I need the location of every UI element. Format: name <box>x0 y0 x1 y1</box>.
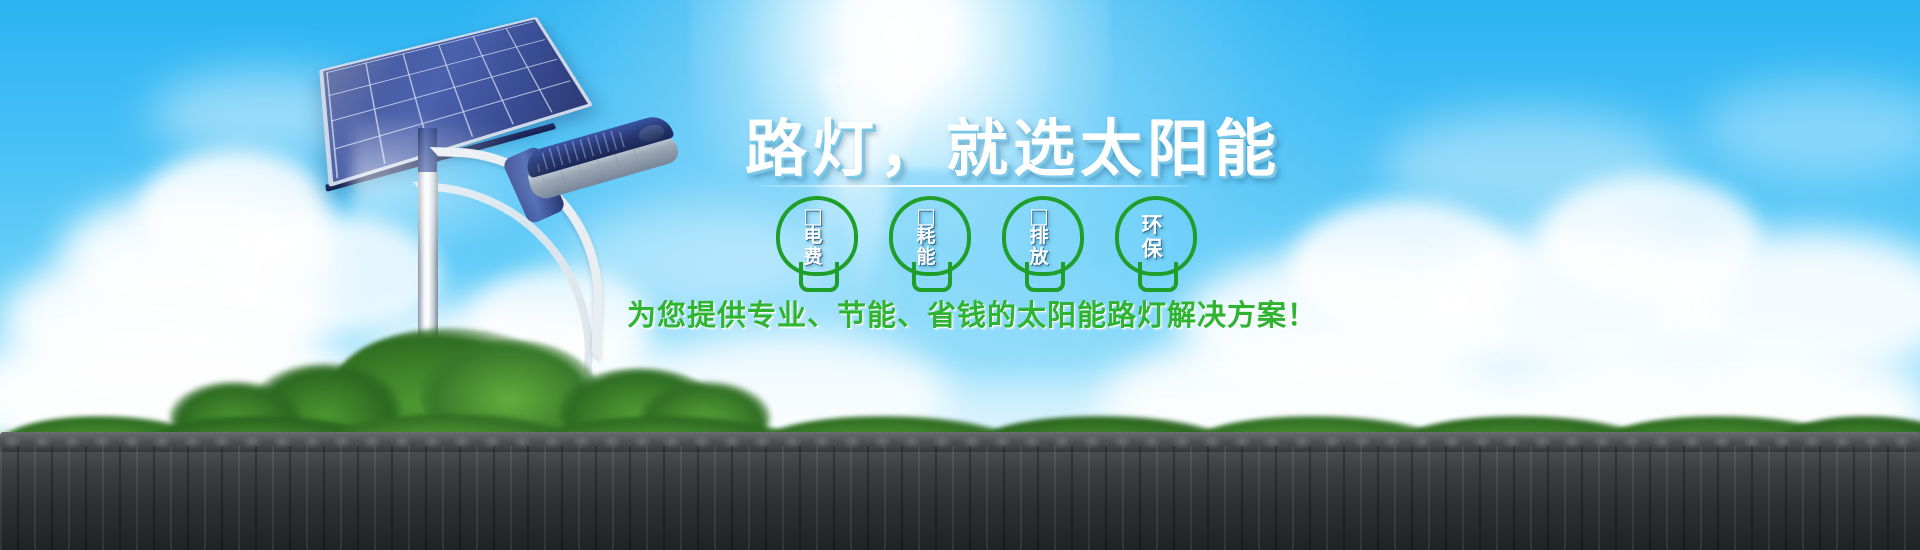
badge-label-line: 排 <box>996 226 1082 247</box>
wall-tile-pattern <box>0 446 1920 550</box>
badge-label-line: 放 <box>996 247 1082 268</box>
banner-subtitle: 为您提供专业、节能、省钱的太阳能路灯解决方案！ <box>627 292 1317 334</box>
badge-label-line: 能 <box>883 247 969 268</box>
title-divider <box>760 185 1188 187</box>
badge-zero-mark: □ <box>770 206 856 227</box>
badge-label: 电 费 <box>770 226 856 267</box>
badge-label-line: 环 <box>1109 214 1195 238</box>
badge-label-line: 电 <box>770 226 856 247</box>
badge-label: 耗 能 <box>883 226 969 267</box>
badge-label: 排 放 <box>996 226 1082 267</box>
page-title: 路灯，就选太阳能 <box>745 98 1281 188</box>
tiled-wall-icon <box>0 446 1920 550</box>
feature-badge: □ 排 放 <box>996 196 1082 288</box>
badge-zero-mark: □ <box>883 206 969 227</box>
ground-scene <box>0 390 1920 550</box>
badge-zero-mark: □ <box>996 206 1082 227</box>
feature-badge: □ 耗 能 <box>883 196 969 288</box>
badge-label-line: 保 <box>1109 238 1195 262</box>
feature-badge: 环 保 <box>1109 196 1195 288</box>
badge-label: 环 保 <box>1109 214 1195 261</box>
feature-badge: □ 电 费 <box>770 196 856 288</box>
feature-badge-list: □ 电 费 □ 耗 能 □ 排 放 <box>770 196 1200 296</box>
badge-label-line: 费 <box>770 247 856 268</box>
badge-label-line: 耗 <box>883 226 969 247</box>
hero-banner: 路灯，就选太阳能 □ 电 费 □ 耗 能 □ <box>0 0 1920 550</box>
